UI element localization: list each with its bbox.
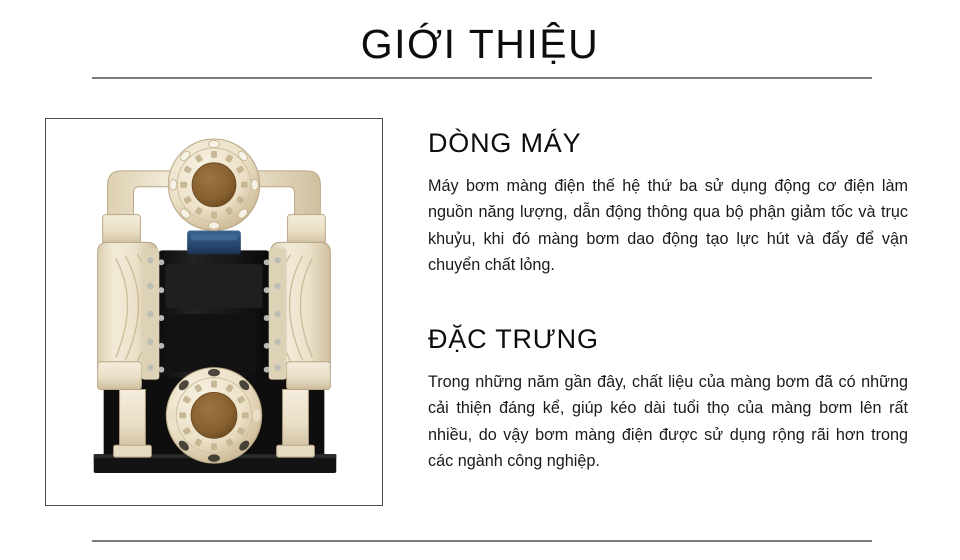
section-heading-dong-may: DÒNG MÁY (428, 128, 910, 159)
section-dac-trung: ĐẶC TRƯNG Trong những năm gần đây, chất … (428, 324, 910, 474)
page-title: GIỚI THIỆU (0, 22, 960, 67)
section-dong-may: DÒNG MÁY Máy bơm màng điện thế hệ thứ ba… (428, 128, 910, 278)
section-body-dac-trung: Trong những năm gần đây, chất liệu của m… (428, 369, 908, 474)
product-image-frame (45, 118, 383, 506)
top-outlet-flange (168, 139, 259, 230)
pump-center-body (157, 230, 270, 377)
motor-cover (187, 230, 241, 254)
divider-top (92, 77, 872, 79)
divider-bottom (92, 540, 872, 542)
content-column: DÒNG MÁY Máy bơm màng điện thế hệ thứ ba… (428, 128, 910, 492)
section-heading-dac-trung: ĐẶC TRƯNG (428, 324, 910, 355)
section-body-dong-may: Máy bơm màng điện thế hệ thứ ba sử dụng … (428, 173, 908, 278)
bottom-inlet-flange (166, 368, 261, 463)
section-spacer (428, 296, 910, 324)
diaphragm-pump-icon (46, 119, 382, 505)
pump-illustration (46, 119, 382, 505)
